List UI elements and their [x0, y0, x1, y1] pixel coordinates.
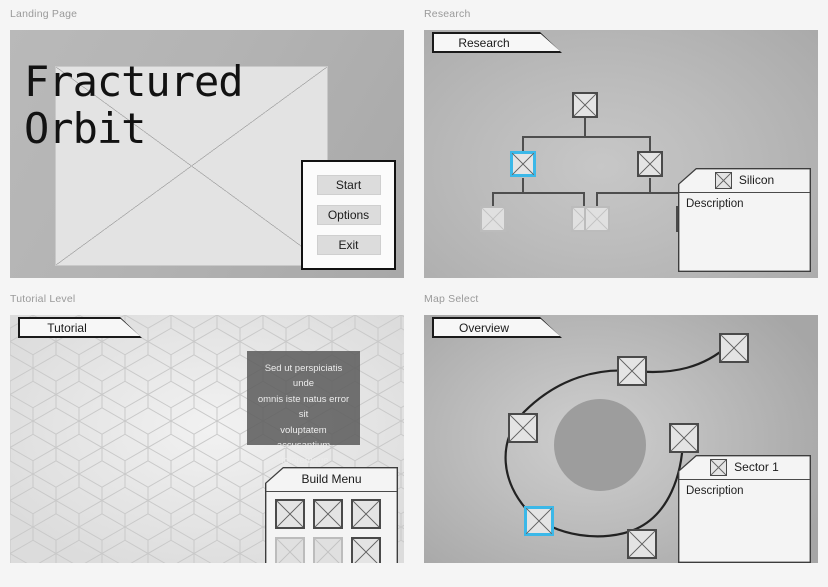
landing-screen: Fractured Orbit Start Options Exit: [10, 30, 404, 278]
tree-edge-left-up: [522, 136, 524, 151]
map-node-bottom-left-selected[interactable]: [524, 506, 554, 536]
map-card-description: Description: [686, 485, 744, 497]
research-card-title: Silicon: [739, 173, 774, 187]
tech-node-c3-locked[interactable]: [584, 206, 610, 232]
map-node-top-right[interactable]: [719, 333, 749, 363]
build-slot-grid: [275, 499, 381, 563]
build-slot-6[interactable]: [351, 537, 381, 563]
panel-landing-page: Landing Page Fractured Orbit Start Optio…: [0, 8, 414, 290]
research-card-description: Description: [686, 198, 744, 210]
options-button[interactable]: Options: [317, 205, 381, 225]
game-title: Fractured Orbit: [24, 58, 243, 152]
card-divider: [679, 192, 809, 193]
panel-caption-map: Map Select: [424, 293, 479, 305]
main-menu-panel: Start Options Exit: [301, 160, 396, 270]
tree-edge-c1-up: [492, 192, 494, 206]
tab-tutorial[interactable]: Tutorial: [18, 317, 142, 338]
panel-research: Research Research: [414, 8, 828, 290]
wireframe-sheet: Landing Page Fractured Orbit Start Optio…: [0, 0, 828, 587]
map-card-title: Sector 1: [734, 460, 779, 474]
tree-edge-left-down: [522, 178, 524, 193]
tab-research-label: Research: [432, 32, 562, 53]
tech-node-c1-locked[interactable]: [480, 206, 506, 232]
research-info-card: Silicon Description: [678, 168, 811, 272]
panel-tutorial-level: Tutorial Level: [0, 293, 414, 575]
map-node-top[interactable]: [617, 356, 647, 386]
panel-map-select: Map Select Overview Sec: [414, 293, 828, 575]
tree-edge-tier2l-bar: [492, 192, 584, 194]
build-slot-4[interactable]: [275, 537, 305, 563]
map-screen: Overview Sector 1 Description: [424, 315, 818, 563]
card-header: Silicon: [678, 168, 811, 192]
build-menu-header: Build Menu: [265, 467, 398, 491]
tutorial-tooltip: Sed ut perspiciatis unde omnis iste natu…: [247, 351, 360, 445]
start-button[interactable]: Start: [317, 175, 381, 195]
build-slot-3[interactable]: [351, 499, 381, 529]
tech-node-right[interactable]: [637, 151, 663, 177]
tech-node-left-selected[interactable]: [510, 151, 536, 177]
placeholder-x-icon: [710, 459, 727, 476]
research-screen: Research: [424, 30, 818, 278]
tab-overview-label: Overview: [432, 317, 562, 338]
map-node-bottom[interactable]: [627, 529, 657, 559]
tree-edge-right-up: [649, 136, 651, 151]
map-info-card: Sector 1 Description: [678, 455, 811, 563]
tab-research[interactable]: Research: [432, 32, 562, 53]
tree-edge-tier2r-bar: [596, 192, 689, 194]
panel-caption-research: Research: [424, 8, 471, 20]
tree-edge-tier1-bar: [522, 136, 650, 138]
card-divider: [679, 479, 809, 480]
tutorial-screen: Tutorial Sed ut perspiciatis unde omnis …: [10, 315, 404, 563]
panel-caption-landing: Landing Page: [10, 8, 77, 20]
map-node-left[interactable]: [508, 413, 538, 443]
tech-node-root[interactable]: [572, 92, 598, 118]
build-slot-2[interactable]: [313, 499, 343, 529]
tab-overview[interactable]: Overview: [432, 317, 562, 338]
card-header: Sector 1: [678, 455, 811, 479]
placeholder-x-icon: [715, 172, 732, 189]
tab-tutorial-label: Tutorial: [18, 317, 142, 338]
build-slot-1[interactable]: [275, 499, 305, 529]
panel-caption-tutorial: Tutorial Level: [10, 293, 75, 305]
exit-button[interactable]: Exit: [317, 235, 381, 255]
tree-edge-root-down: [584, 118, 586, 137]
build-menu-title: Build Menu: [301, 472, 361, 486]
build-slot-5[interactable]: [313, 537, 343, 563]
tree-edge-right-down: [649, 178, 651, 193]
tree-edge-c2-up: [583, 192, 585, 206]
map-node-right[interactable]: [669, 423, 699, 453]
build-menu-card: Build Menu: [265, 467, 398, 563]
card-divider: [266, 491, 396, 492]
tree-edge-c3-up: [596, 192, 598, 206]
